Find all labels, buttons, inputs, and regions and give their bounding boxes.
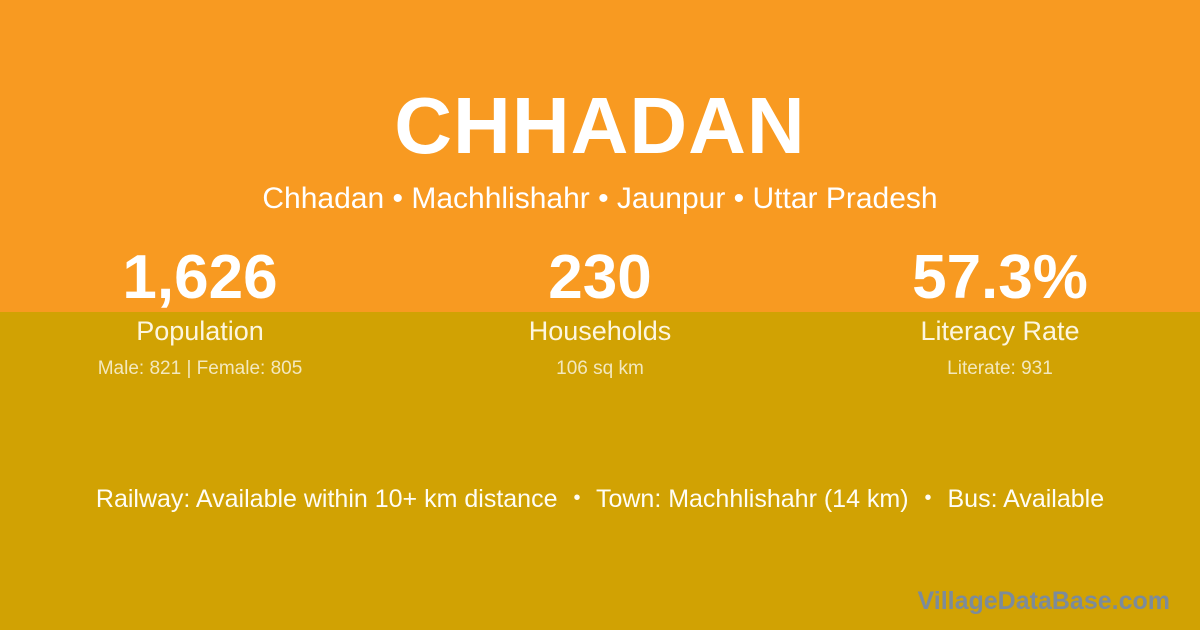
village-info-card: CHHADAN Chhadan • Machhlishahr • Jaunpur…: [0, 0, 1200, 630]
page-title: CHHADAN: [0, 0, 1200, 168]
amenity-separator: •: [564, 487, 589, 509]
amenity-bus: Bus: Available: [948, 485, 1105, 513]
amenity-separator: •: [916, 487, 941, 509]
stat-label: Population: [0, 313, 400, 347]
stat-sublabel: Literate: 931: [800, 347, 1200, 381]
amenities-row: Railway: Available within 10+ km distanc…: [0, 482, 1200, 518]
stats-row: 1,626 Population Male: 821 | Female: 805…: [0, 243, 1200, 381]
stat-value: 1,626: [0, 243, 400, 313]
stat-value: 230: [400, 243, 800, 313]
breadcrumb: Chhadan • Machhlishahr • Jaunpur • Uttar…: [0, 168, 1200, 216]
stat-population: 1,626 Population Male: 821 | Female: 805: [0, 243, 400, 381]
amenity-nearest-town: Town: Machhlishahr (14 km): [596, 485, 909, 513]
stat-sublabel: Male: 821 | Female: 805: [0, 347, 400, 381]
stat-literacy-rate: 57.3% Literacy Rate Literate: 931: [800, 243, 1200, 381]
stat-label: Households: [400, 313, 800, 347]
amenity-railway: Railway: Available within 10+ km distanc…: [96, 485, 558, 513]
stat-sublabel: 106 sq km: [400, 347, 800, 381]
stat-value: 57.3%: [800, 243, 1200, 313]
card-header: CHHADAN Chhadan • Machhlishahr • Jaunpur…: [0, 0, 1200, 216]
stat-households: 230 Households 106 sq km: [400, 243, 800, 381]
site-brand-watermark: VillageDataBase.com: [918, 586, 1170, 616]
stat-label: Literacy Rate: [800, 313, 1200, 347]
